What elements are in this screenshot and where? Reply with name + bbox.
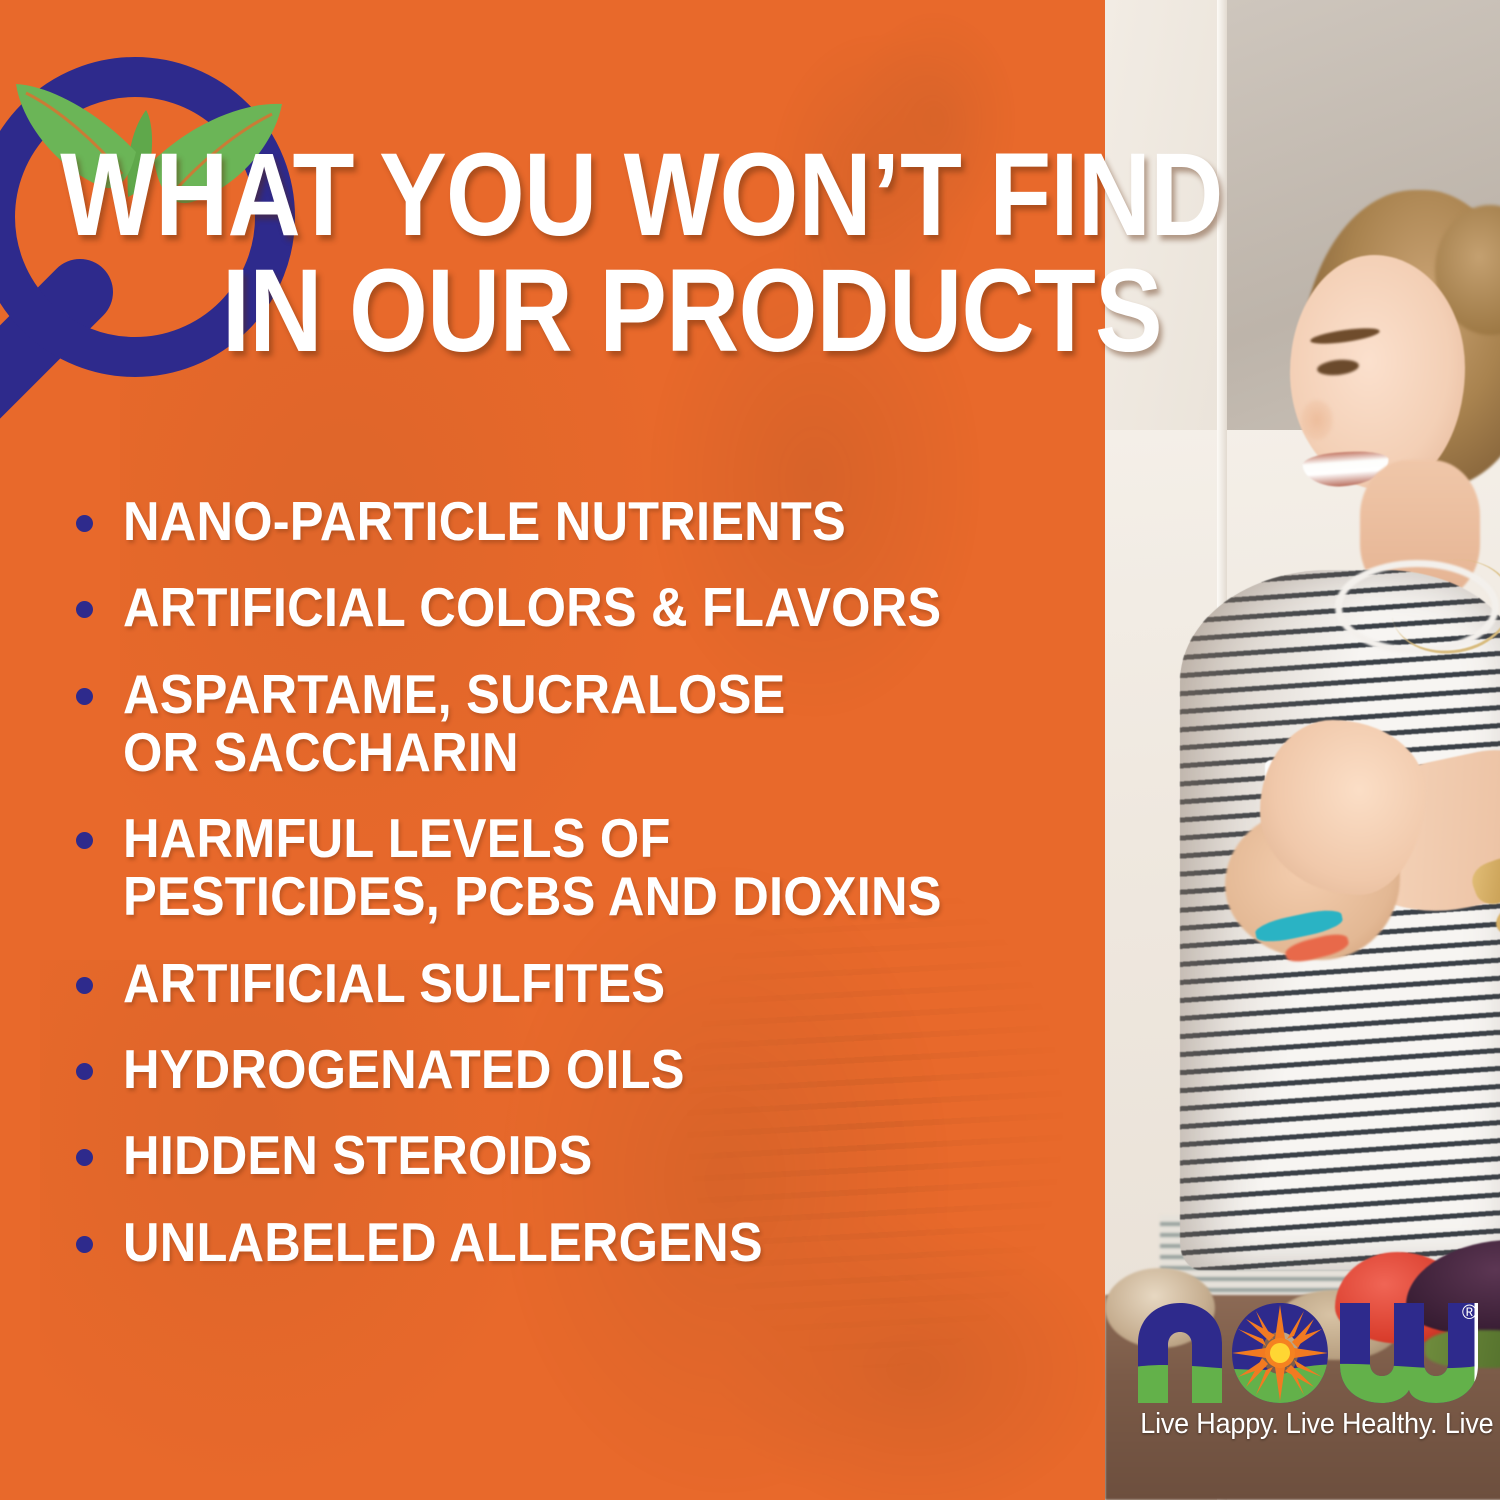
list-item-label: NANO-PARTICLE NUTRIENTS xyxy=(123,492,1003,550)
bullet-dot-icon xyxy=(76,1149,93,1166)
registered-trademark-icon: ® xyxy=(1462,1302,1477,1324)
list-item: HIDDEN STEROIDS xyxy=(70,1126,1080,1184)
list-item-label: ARTIFICIAL SULFITES xyxy=(123,954,1003,1012)
list-item-label: HIDDEN STEROIDS xyxy=(123,1126,1003,1184)
photo-nose xyxy=(1301,400,1333,440)
now-wordmark-icon: ® xyxy=(1128,1295,1478,1410)
bullet-dot-icon xyxy=(76,515,93,532)
list-item: ARTIFICIAL COLORS & FLAVORS xyxy=(70,578,1080,636)
bullet-dot-icon xyxy=(76,1063,93,1080)
list-item: HYDROGENATED OILS xyxy=(70,1040,1080,1098)
exclusion-list: NANO-PARTICLE NUTRIENTS ARTIFICIAL COLOR… xyxy=(70,492,1080,1299)
list-item: NANO-PARTICLE NUTRIENTS xyxy=(70,492,1080,550)
lifestyle-photo xyxy=(1105,0,1500,1500)
magnifying-glass-icon xyxy=(0,0,390,432)
bullet-dot-icon xyxy=(76,977,93,994)
bullet-dot-icon xyxy=(76,688,93,705)
list-item-label: UNLABELED ALLERGENS xyxy=(123,1213,1003,1271)
list-item-label: ASPARTAME, SUCRALOSE OR SACCHARIN xyxy=(123,665,1003,782)
list-item: HARMFUL LEVELS OF PESTICIDES, PCBS AND D… xyxy=(70,809,1080,926)
list-item: UNLABELED ALLERGENS xyxy=(70,1213,1080,1271)
list-item: ASPARTAME, SUCRALOSE OR SACCHARIN xyxy=(70,665,1080,782)
list-item: ARTIFICIAL SULFITES xyxy=(70,954,1080,1012)
bullet-dot-icon xyxy=(76,832,93,849)
now-logo: ® Live Happy. Live Healthy. Live NOW. xyxy=(1128,1295,1478,1460)
promo-graphic: WHAT YOU WON’T FIND IN OUR PRODUCTS NANO… xyxy=(0,0,1500,1500)
list-item-label: ARTIFICIAL COLORS & FLAVORS xyxy=(123,578,1003,636)
list-item-label: HARMFUL LEVELS OF PESTICIDES, PCBS AND D… xyxy=(123,809,1003,926)
bullet-dot-icon xyxy=(76,601,93,618)
bullet-dot-icon xyxy=(76,1236,93,1253)
list-item-label: HYDROGENATED OILS xyxy=(123,1040,1003,1098)
logo-tagline: Live Happy. Live Healthy. Live NOW. xyxy=(1140,1408,1466,1441)
